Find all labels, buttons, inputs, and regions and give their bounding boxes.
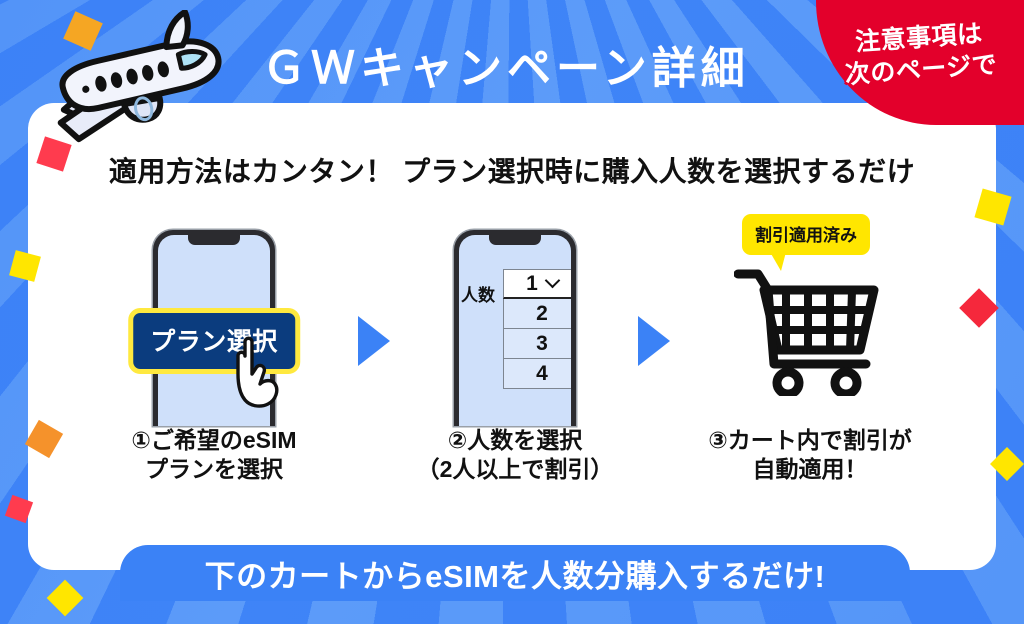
quantity-dropdown[interactable]: 人数 1 2 3 4 <box>503 269 571 389</box>
step-3-visual: 割引適用済み <box>680 222 940 422</box>
step-2: 人数 1 2 3 4 ②人数を選択 （2人以上で割引） <box>385 222 645 522</box>
airplane-icon <box>24 10 239 160</box>
step-2-caption: ②人数を選択 （2人以上で割引） <box>385 426 645 485</box>
quantity-selected-value: 1 <box>526 272 538 296</box>
step-1-caption-line-2: プランを選択 <box>84 455 344 484</box>
steps-row: プラン選択 ①ご希望のeSIM プランを選択 人数 <box>60 222 970 522</box>
step-3-caption-line-2: 自動適用！ <box>680 455 940 484</box>
step-3: 割引適用済み ③カート内で割引が 自動適用！ <box>680 222 940 522</box>
step-1-caption-line-1: ①ご希望のeSIM <box>84 426 344 455</box>
step-2-visual: 人数 1 2 3 4 <box>385 222 645 422</box>
phone-notch <box>489 235 541 245</box>
hand-pointer-icon <box>224 334 288 408</box>
discount-applied-badge: 割引適用済み <box>742 214 870 255</box>
quantity-option[interactable]: 4 <box>503 359 571 389</box>
phone-screen: 人数 1 2 3 4 <box>459 235 571 426</box>
step-2-caption-line-2: （2人以上で割引） <box>385 455 645 484</box>
step-1: プラン選択 ①ご希望のeSIM プランを選択 <box>84 222 344 522</box>
bottom-banner-text: 下のカートからeSIMを人数分購入するだけ! <box>205 551 826 596</box>
chevron-down-icon <box>545 273 561 289</box>
phone-mockup-quantity: 人数 1 2 3 4 <box>454 230 576 426</box>
quantity-option-selected[interactable]: 1 <box>503 269 571 299</box>
quantity-option[interactable]: 3 <box>503 329 571 359</box>
step-1-visual: プラン選択 <box>84 222 344 422</box>
quantity-dropdown-label: 人数 <box>461 281 495 306</box>
campaign-poster: ＧＷキャンペーン詳細 注意事項は 次のページで 適用方法はカンタン！ プラン選択… <box>0 0 1024 624</box>
step-2-caption-line-1: ②人数を選択 <box>385 426 645 455</box>
step-3-caption: ③カート内で割引が 自動適用！ <box>680 426 940 485</box>
quantity-option[interactable]: 2 <box>503 299 571 329</box>
triangle-right-icon <box>638 316 670 366</box>
triangle-right-icon <box>358 316 390 366</box>
bottom-banner: 下のカートからeSIMを人数分購入するだけ! <box>120 545 910 601</box>
phone-notch <box>188 235 240 245</box>
step-1-caption: ①ご希望のeSIM プランを選択 <box>84 426 344 485</box>
step-3-caption-line-1: ③カート内で割引が <box>680 426 940 455</box>
page-title: ＧＷキャンペーン詳細 <box>262 32 750 96</box>
shopping-cart-icon <box>734 264 886 396</box>
